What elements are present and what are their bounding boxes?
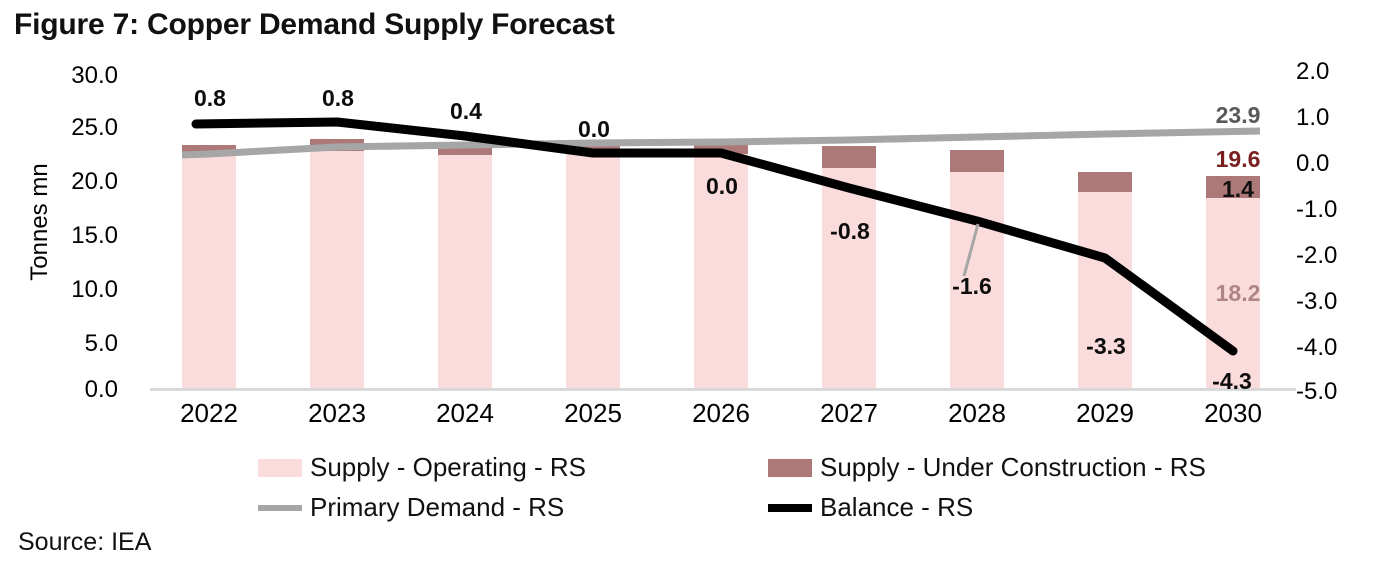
balance-label-2029: -3.3 <box>1046 333 1166 360</box>
x-label-2027: 2027 <box>789 398 909 429</box>
chart-root: Figure 7: Copper Demand Supply Forecast … <box>0 0 1386 571</box>
x-label-2028: 2028 <box>917 398 1037 429</box>
x-label-2022: 2022 <box>149 398 269 429</box>
balance-label-2023: 0.8 <box>278 85 398 112</box>
legend-label: Primary Demand - RS <box>310 492 564 523</box>
source-note: Source: IEA <box>18 528 151 557</box>
legend-item-supply-operating[interactable]: Supply - Operating - RS <box>258 452 586 483</box>
x-axis-labels: 2022 2023 2024 2025 2026 2027 2028 2029 … <box>0 398 1386 438</box>
legend-label: Supply - Operating - RS <box>310 452 586 483</box>
x-label-2024: 2024 <box>405 398 525 429</box>
plot-area: Tonnes mn 30.0 25.0 20.0 15.0 10.0 5.0 0… <box>0 58 1386 398</box>
balance-label-2025: 0.0 <box>534 116 654 143</box>
balance-label-2027: -0.8 <box>790 218 910 245</box>
legend-line-icon <box>258 505 302 511</box>
x-label-2025: 2025 <box>533 398 653 429</box>
legend-line-icon <box>768 504 812 512</box>
x-label-2023: 2023 <box>277 398 397 429</box>
x-label-2030: 2030 <box>1173 398 1293 429</box>
callout-leader-line <box>964 224 978 276</box>
x-label-2026: 2026 <box>661 398 781 429</box>
legend-label: Balance - RS <box>820 492 973 523</box>
chart-legend: Supply - Operating - RS Supply - Under C… <box>0 448 1386 526</box>
balance-label-2022: 0.8 <box>150 85 270 112</box>
legend-item-supply-under-construction[interactable]: Supply - Under Construction - RS <box>768 452 1206 483</box>
demand-label-2030: 23.9 <box>1178 102 1298 129</box>
under-construction-label-2030: 1.4 <box>1178 176 1298 203</box>
x-label-2029: 2029 <box>1045 398 1165 429</box>
legend-item-primary-demand[interactable]: Primary Demand - RS <box>258 492 564 523</box>
total-supply-label-2030: 19.6 <box>1178 146 1298 173</box>
legend-swatch-icon <box>258 459 302 477</box>
legend-label: Supply - Under Construction - RS <box>820 452 1206 483</box>
legend-swatch-icon <box>768 459 812 477</box>
balance-label-2030: -4.3 <box>1172 368 1292 395</box>
balance-label-2024: 0.4 <box>406 98 526 125</box>
balance-line <box>196 122 1233 351</box>
balance-label-2028: -1.6 <box>912 273 1032 300</box>
balance-label-2026: 0.0 <box>662 173 782 200</box>
operating-label-2030: 18.2 <box>1178 280 1298 307</box>
legend-item-balance[interactable]: Balance - RS <box>768 492 973 523</box>
page-title: Figure 7: Copper Demand Supply Forecast <box>14 8 615 42</box>
